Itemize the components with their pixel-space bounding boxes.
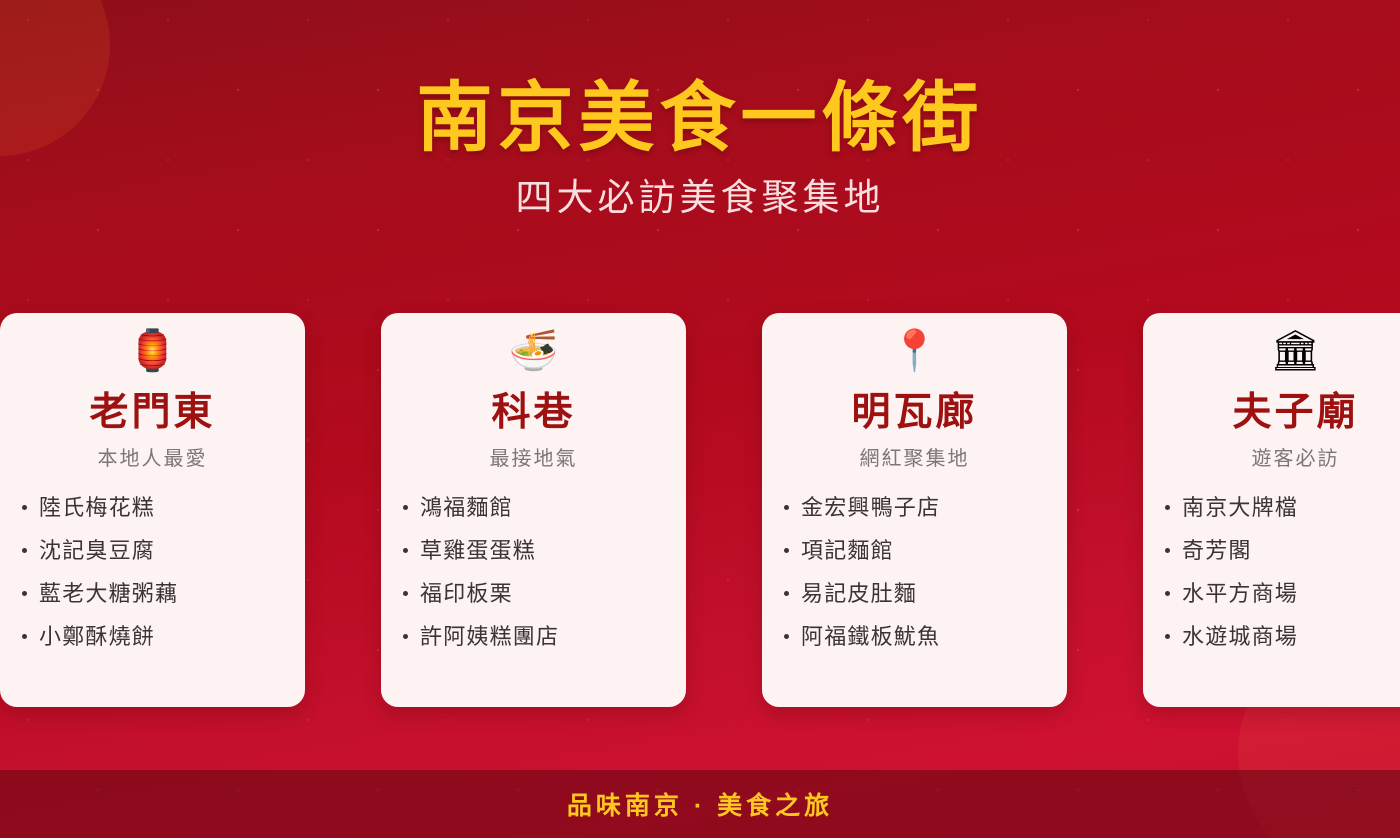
bullet-icon [22,634,27,639]
bullet-icon [403,548,408,553]
card-subtitle: 網紅聚集地 [762,447,1067,471]
list-item: 水遊城商場 [1165,626,1400,648]
card-subtitle: 遊客必訪 [1143,447,1400,471]
card-item-list: 鴻福麵館 草雞蛋蛋糕 福印板栗 許阿姨糕團店 [381,497,686,648]
list-item-label: 奇芳閣 [1182,540,1252,562]
card-title: 明瓦廊 [762,391,1067,436]
list-item: 沈記臭豆腐 [22,540,305,562]
card-fuzimiao[interactable]: 🏛 夫子廟 遊客必訪 南京大牌檔 奇芳閣 水平方商場 水遊城商場 [1143,313,1400,707]
header: 南京美食一條街 四大必訪美食聚集地 [0,78,1400,220]
list-item: 陸氏梅花糕 [22,497,305,519]
list-item-label: 草雞蛋蛋糕 [420,540,536,562]
bullet-icon [1165,505,1170,510]
list-item-label: 水平方商場 [1182,583,1298,605]
card-subtitle: 本地人最愛 [0,447,305,471]
card-item-list: 陸氏梅花糕 沈記臭豆腐 藍老大糖粥藕 小鄭酥燒餅 [0,497,305,648]
round-pushpin-icon: 📍 [762,331,1067,377]
list-item-label: 福印板栗 [420,583,513,605]
card-title: 科巷 [381,391,686,436]
list-item-label: 阿福鐵板魷魚 [801,626,940,648]
list-item-label: 鴻福麵館 [420,497,513,519]
card-grid: 🏮 老門東 本地人最愛 陸氏梅花糕 沈記臭豆腐 藍老大糖粥藕 小鄭酥燒餅 🍜 科… [0,313,1400,707]
bullet-icon [22,505,27,510]
list-item-label: 南京大牌檔 [1182,497,1298,519]
list-item-label: 水遊城商場 [1182,626,1298,648]
list-item-label: 陸氏梅花糕 [39,497,155,519]
page-title: 南京美食一條街 [0,78,1400,160]
bullet-icon [22,548,27,553]
list-item: 小鄭酥燒餅 [22,626,305,648]
card-kexiang[interactable]: 🍜 科巷 最接地氣 鴻福麵館 草雞蛋蛋糕 福印板栗 許阿姨糕團店 [381,313,686,707]
card-title: 老門東 [0,391,305,436]
list-item-label: 金宏興鴨子店 [801,497,940,519]
list-item: 藍老大糖粥藕 [22,583,305,605]
bullet-icon [403,591,408,596]
list-item: 金宏興鴨子店 [784,497,1067,519]
page-subtitle: 四大必訪美食聚集地 [0,176,1400,220]
bullet-icon [1165,591,1170,596]
bullet-icon [1165,548,1170,553]
list-item-label: 易記皮肚麵 [801,583,917,605]
footer-tagline: 品味南京 · 美食之旅 [567,786,833,822]
list-item: 南京大牌檔 [1165,497,1400,519]
bullet-icon [22,591,27,596]
card-laomendong[interactable]: 🏮 老門東 本地人最愛 陸氏梅花糕 沈記臭豆腐 藍老大糖粥藕 小鄭酥燒餅 [0,313,305,707]
bullet-icon [784,548,789,553]
list-item: 水平方商場 [1165,583,1400,605]
noodle-bowl-icon: 🍜 [381,331,686,377]
list-item-label: 小鄭酥燒餅 [39,626,155,648]
classical-building-icon: 🏛 [1143,331,1400,377]
infographic-poster: 南京美食一條街 四大必訪美食聚集地 🏮 老門東 本地人最愛 陸氏梅花糕 沈記臭豆… [0,0,1400,838]
footer: 品味南京 · 美食之旅 [0,770,1400,838]
list-item: 易記皮肚麵 [784,583,1067,605]
bullet-icon [784,634,789,639]
list-item: 鴻福麵館 [403,497,686,519]
list-item-label: 沈記臭豆腐 [39,540,155,562]
bullet-icon [784,505,789,510]
bullet-icon [784,591,789,596]
card-title: 夫子廟 [1143,391,1400,436]
list-item: 福印板栗 [403,583,686,605]
list-item: 草雞蛋蛋糕 [403,540,686,562]
red-lantern-icon: 🏮 [0,331,305,377]
card-mingwalang[interactable]: 📍 明瓦廊 網紅聚集地 金宏興鴨子店 項記麵館 易記皮肚麵 阿福鐵板魷魚 [762,313,1067,707]
list-item: 許阿姨糕團店 [403,626,686,648]
card-item-list: 南京大牌檔 奇芳閣 水平方商場 水遊城商場 [1143,497,1400,648]
list-item-label: 許阿姨糕團店 [420,626,559,648]
list-item: 項記麵館 [784,540,1067,562]
bullet-icon [1165,634,1170,639]
card-item-list: 金宏興鴨子店 項記麵館 易記皮肚麵 阿福鐵板魷魚 [762,497,1067,648]
list-item-label: 項記麵館 [801,540,894,562]
list-item: 阿福鐵板魷魚 [784,626,1067,648]
list-item-label: 藍老大糖粥藕 [39,583,178,605]
bullet-icon [403,505,408,510]
list-item: 奇芳閣 [1165,540,1400,562]
bullet-icon [403,634,408,639]
card-subtitle: 最接地氣 [381,447,686,471]
